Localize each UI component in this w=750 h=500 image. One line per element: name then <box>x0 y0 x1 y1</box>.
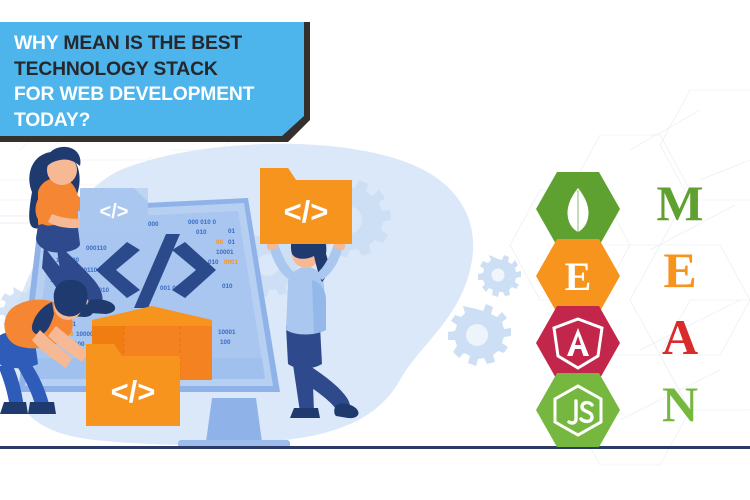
svg-text:</>: </> <box>284 194 329 229</box>
mean-letter-m: M <box>645 178 715 228</box>
svg-text:000 010 0: 000 010 0 <box>188 219 217 226</box>
poster-canvas: 10 100 000 000 010 0 00 010 01 10 000110… <box>0 0 750 500</box>
angular-shield-icon <box>536 306 620 380</box>
monitor-stand <box>206 398 262 442</box>
mean-stack-letters: M E A N <box>645 172 725 440</box>
mean-letter-e: E <box>645 245 715 295</box>
folder-left: </> <box>86 344 180 426</box>
headline-seg-mean: MEAN IS THE BEST <box>63 33 242 54</box>
svg-text:010: 010 <box>196 229 207 236</box>
headline-line-4: TODAY? <box>14 108 304 134</box>
code-card: </> <box>80 188 148 232</box>
ground-line <box>0 446 750 449</box>
illustration: 10 100 000 000 010 0 00 010 01 10 000110… <box>0 130 530 460</box>
hex-express[interactable]: E <box>536 239 620 315</box>
headline-line-2: TECHNOLOGY STACK <box>14 57 304 83</box>
hex-angular[interactable] <box>536 306 620 382</box>
svg-text:100: 100 <box>220 339 231 346</box>
hex-mongodb[interactable] <box>536 172 620 248</box>
illustration-svg: 10 100 000 000 010 0 00 010 01 10 000110… <box>0 130 530 460</box>
svg-text:10000: 10000 <box>76 331 94 338</box>
mean-stack-hexagons: E <box>536 172 628 440</box>
shoe-stand <box>290 408 320 418</box>
svg-text:10001: 10001 <box>216 249 234 256</box>
svg-text:0001: 0001 <box>224 259 239 266</box>
mean-letter-a: A <box>645 312 715 362</box>
svg-text:000110: 000110 <box>86 245 107 252</box>
svg-text:00: 00 <box>216 239 224 246</box>
shoe-back-l <box>0 402 28 414</box>
hex-nodejs[interactable] <box>536 373 620 449</box>
express-e-icon: E <box>536 239 620 315</box>
shoe-front-l <box>28 402 56 414</box>
svg-text:10001: 10001 <box>218 329 236 336</box>
svg-text:01: 01 <box>228 228 236 235</box>
mean-letter-n: N <box>645 379 715 429</box>
svg-text:</>: </> <box>111 374 156 409</box>
headline-seg-why: WHY <box>14 33 63 54</box>
svg-text:000: 000 <box>148 221 159 228</box>
headline-line-1: WHY MEAN IS THE BEST <box>14 31 304 57</box>
mongodb-leaf-icon <box>536 172 620 246</box>
banner-body: WHY MEAN IS THE BEST TECHNOLOGY STACK FO… <box>0 22 304 136</box>
headline-line-3: FOR WEB DEVELOPMENT <box>14 82 304 108</box>
svg-text:01: 01 <box>228 239 236 246</box>
nodejs-js-icon <box>536 373 620 447</box>
headline-banner: WHY MEAN IS THE BEST TECHNOLOGY STACK FO… <box>0 22 310 142</box>
svg-text:010: 010 <box>222 283 233 290</box>
svg-text:</>: </> <box>100 201 129 223</box>
